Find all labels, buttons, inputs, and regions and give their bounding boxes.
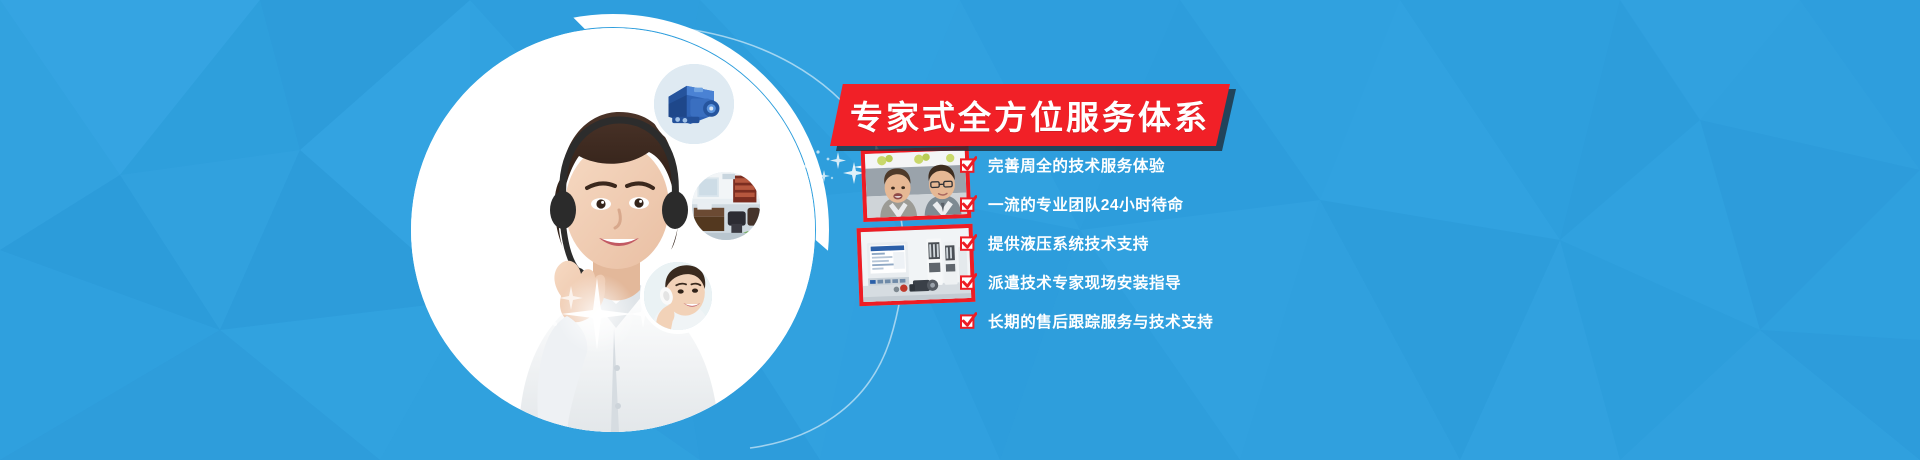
businessmen-meeting-photo — [861, 146, 972, 222]
checkbox-checked-icon — [960, 195, 977, 212]
ribbon-body: 专家式全方位服务体系 — [830, 84, 1230, 146]
industrial-control-equipment-photo — [857, 224, 976, 306]
list-item-label: 派遣技术专家现场安装指导 — [988, 271, 1181, 293]
list-item: 派遣技术专家现场安装指导 — [960, 267, 1380, 296]
list-item: 完善周全的技术服务体验 — [960, 150, 1380, 179]
service-banner: 专家式全方位服务体系 完善周全的技术服务体验 一流的专业团队24小时待命 — [0, 0, 1920, 460]
checkbox-checked-icon — [960, 156, 977, 173]
industrial-control-equipment-image — [861, 228, 972, 305]
hydraulic-pump-photo — [654, 64, 734, 144]
office-interior-photo — [692, 172, 760, 240]
woman-earpiece-circle — [640, 258, 716, 334]
page-title: 专家式全方位服务体系 — [850, 91, 1210, 139]
list-item-label: 完善周全的技术服务体验 — [988, 154, 1165, 176]
title-ribbon: 专家式全方位服务体系 — [830, 84, 1230, 146]
checkbox-checked-icon — [960, 312, 977, 329]
feature-list: 完善周全的技术服务体验 一流的专业团队24小时待命 提供液压系统技术支持 — [960, 150, 1380, 345]
checkbox-checked-icon — [960, 273, 977, 290]
list-item-label: 提供液压系统技术支持 — [988, 232, 1149, 254]
hydraulic-pump-circle — [650, 60, 738, 148]
woman-with-earpiece-photo — [644, 262, 712, 330]
businessmen-meeting-image — [865, 150, 967, 220]
office-interior-circle — [688, 168, 764, 244]
list-item-label: 长期的售后跟踪服务与技术支持 — [988, 310, 1213, 332]
list-item: 一流的专业团队24小时待命 — [960, 189, 1380, 218]
list-item-label: 一流的专业团队24小时待命 — [988, 193, 1184, 215]
list-item: 长期的售后跟踪服务与技术支持 — [960, 306, 1380, 335]
list-item: 提供液压系统技术支持 — [960, 228, 1380, 257]
checkbox-checked-icon — [960, 234, 977, 251]
